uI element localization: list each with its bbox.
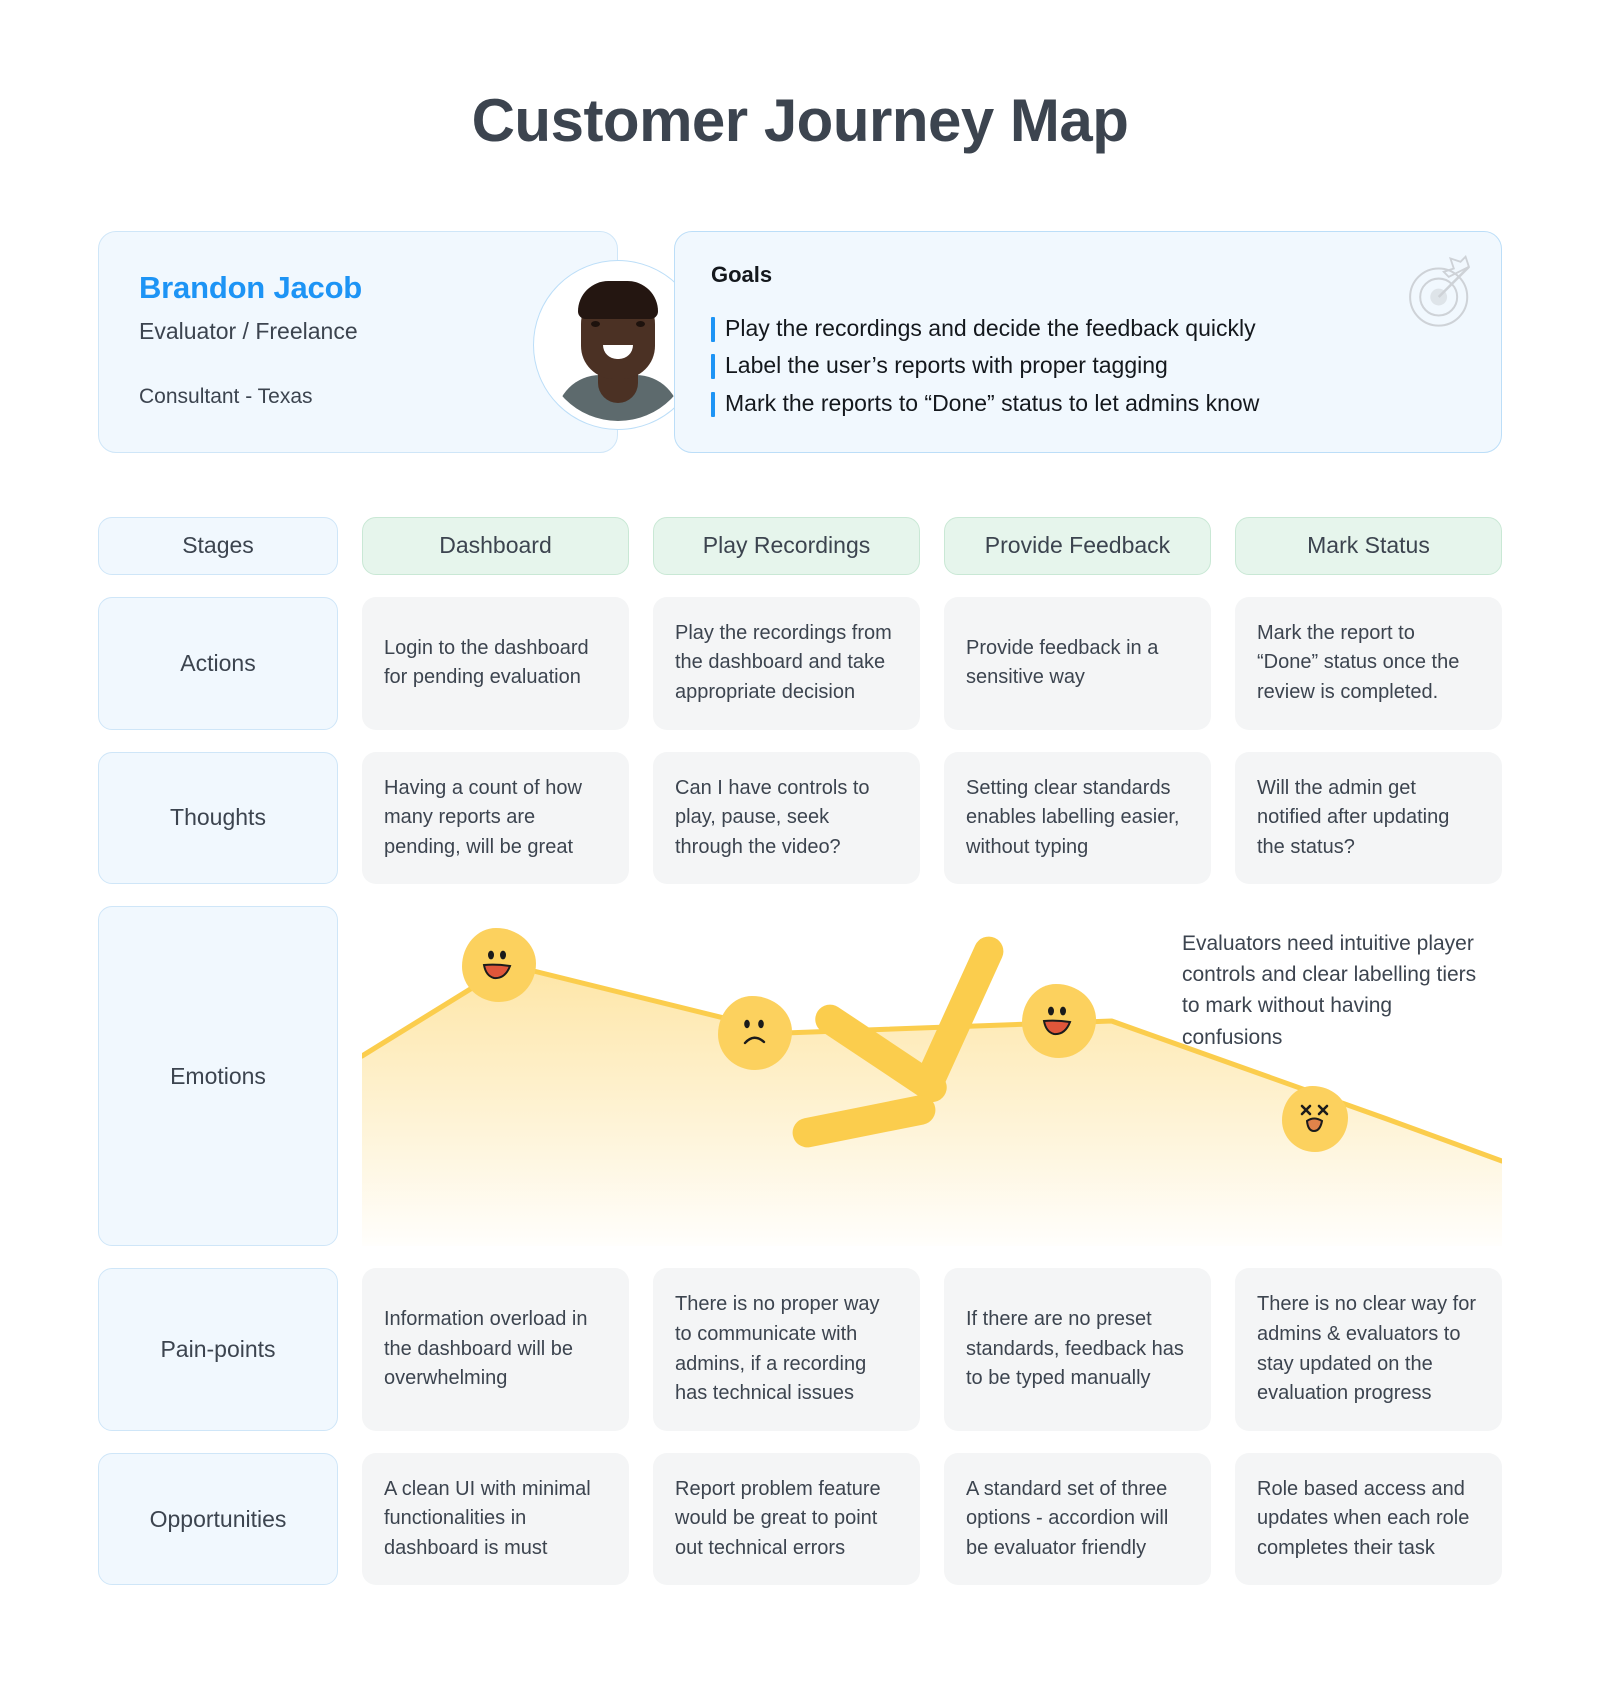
cell-actions-dashboard: Login to the dashboard for pending evalu…: [362, 597, 629, 730]
goal-text: Label the user’s reports with proper tag…: [725, 347, 1168, 384]
bullet-bar-icon: [711, 354, 715, 379]
cell-pain-points-mark-status: There is no clear way for admins & evalu…: [1235, 1268, 1502, 1430]
row-label-actions: Actions: [98, 597, 338, 730]
stage-header-mark-status: Mark Status: [1235, 517, 1502, 575]
cell-opportunities-provide-feedback: A standard set of three options - accord…: [944, 1453, 1211, 1586]
stage-header-play-recordings: Play Recordings: [653, 517, 920, 575]
emotions-annotation: Evaluators need intuitive player control…: [1182, 928, 1482, 1052]
cell-thoughts-provide-feedback: Setting clear standards enables labellin…: [944, 752, 1211, 885]
portrait-photo-icon: [543, 271, 693, 421]
row-label-pain-points: Pain-points: [98, 1268, 338, 1430]
cell-opportunities-dashboard: A clean UI with minimal functionalities …: [362, 1453, 629, 1586]
goals-heading: Goals: [711, 262, 1461, 288]
stage-header-dashboard: Dashboard: [362, 517, 629, 575]
cell-pain-points-play-recordings: There is no proper way to communicate wi…: [653, 1268, 920, 1430]
stages-row: Stages Dashboard Play Recordings Provide…: [98, 517, 1502, 575]
bullet-bar-icon: [711, 392, 715, 417]
cell-actions-mark-status: Mark the report to “Done” status once th…: [1235, 597, 1502, 730]
emotions-chart: Evaluators need intuitive player control…: [362, 906, 1502, 1246]
cell-opportunities-play-recordings: Report problem feature would be great to…: [653, 1453, 920, 1586]
goal-item: Play the recordings and decide the feedb…: [711, 310, 1461, 347]
row-label-opportunities: Opportunities: [98, 1453, 338, 1586]
goal-text: Mark the reports to “Done” status to let…: [725, 385, 1259, 422]
cell-actions-play-recordings: Play the recordings from the dashboard a…: [653, 597, 920, 730]
persona-goals-row: Brandon Jacob Evaluator / Freelance Cons…: [0, 155, 1600, 453]
row-pain-points: Pain-points Information overload in the …: [98, 1268, 1502, 1430]
row-opportunities: Opportunities A clean UI with minimal fu…: [98, 1453, 1502, 1586]
bullet-bar-icon: [711, 317, 715, 342]
journey-grid: Stages Dashboard Play Recordings Provide…: [0, 453, 1600, 1586]
cell-thoughts-mark-status: Will the admin get notified after updati…: [1235, 752, 1502, 885]
cell-opportunities-mark-status: Role based access and updates when each …: [1235, 1453, 1502, 1586]
cell-thoughts-play-recordings: Can I have controls to play, pause, seek…: [653, 752, 920, 885]
goal-item: Label the user’s reports with proper tag…: [711, 347, 1461, 384]
goal-text: Play the recordings and decide the feedb…: [725, 310, 1256, 347]
row-actions: Actions Login to the dashboard for pendi…: [98, 597, 1502, 730]
cell-pain-points-provide-feedback: If there are no preset standards, feedba…: [944, 1268, 1211, 1430]
row-label-stages: Stages: [98, 517, 338, 575]
cell-thoughts-dashboard: Having a count of how many reports are p…: [362, 752, 629, 885]
stage-header-provide-feedback: Provide Feedback: [944, 517, 1211, 575]
goal-item: Mark the reports to “Done” status to let…: [711, 385, 1461, 422]
row-label-thoughts: Thoughts: [98, 752, 338, 885]
cell-pain-points-dashboard: Information overload in the dashboard wi…: [362, 1268, 629, 1430]
page-title: Customer Journey Map: [0, 0, 1600, 155]
cell-actions-provide-feedback: Provide feedback in a sensitive way: [944, 597, 1211, 730]
row-thoughts: Thoughts Having a count of how many repo…: [98, 752, 1502, 885]
row-emotions: Emotions: [98, 906, 1502, 1246]
target-dartboard-icon: [1395, 250, 1479, 334]
row-label-emotions: Emotions: [98, 906, 338, 1246]
goals-card: Goals Play the recordings and decide the…: [674, 231, 1502, 453]
persona-card: Brandon Jacob Evaluator / Freelance Cons…: [98, 231, 618, 453]
